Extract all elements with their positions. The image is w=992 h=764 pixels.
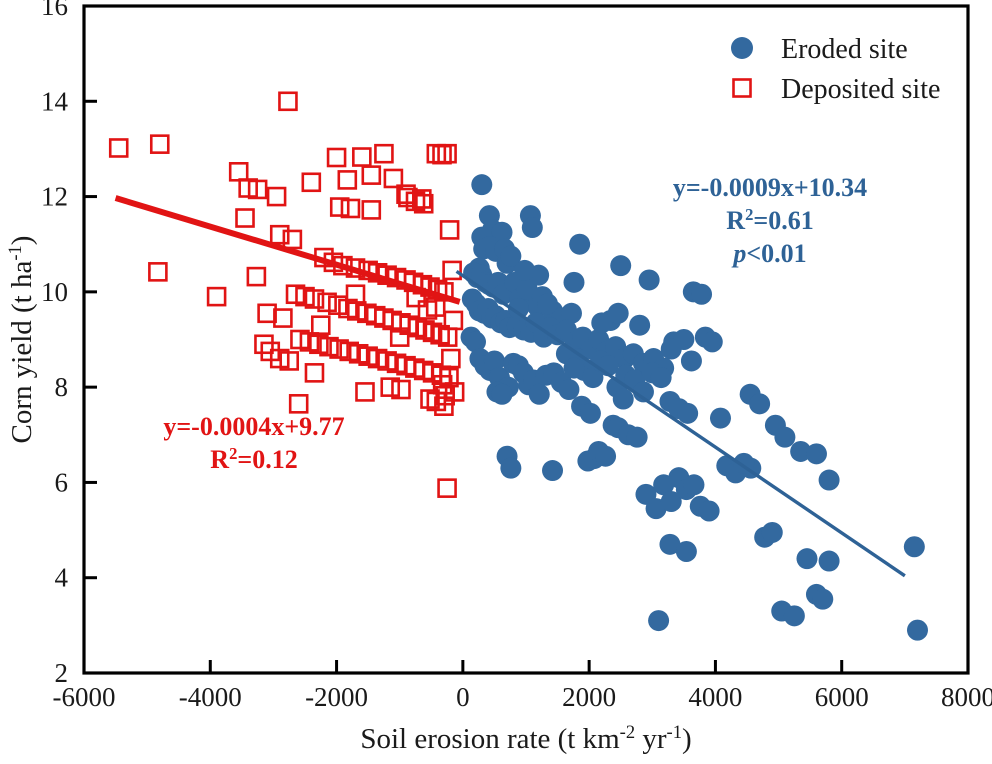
data-point <box>563 358 584 379</box>
data-point <box>627 427 648 448</box>
data-point <box>356 383 373 400</box>
legend-marker-square-icon <box>734 80 751 97</box>
data-point <box>375 145 392 162</box>
data-point <box>353 149 370 166</box>
data-point <box>558 379 579 400</box>
data-point <box>284 231 301 248</box>
data-point <box>762 522 783 543</box>
data-point <box>259 305 276 322</box>
data-point <box>904 536 925 557</box>
annotation-line: R2=0.12 <box>210 444 297 475</box>
data-point <box>439 480 456 497</box>
data-point <box>363 167 380 184</box>
annotation-line: p<0.01 <box>731 239 806 268</box>
annotation-line: y=-0.0004x+9.77 <box>163 412 344 441</box>
data-point <box>500 458 521 479</box>
data-point <box>230 163 247 180</box>
data-point <box>542 460 563 481</box>
data-point <box>514 260 535 281</box>
data-point <box>248 268 265 285</box>
y-tick-label: 14 <box>41 86 69 116</box>
x-tick-label: 2000 <box>562 682 616 712</box>
data-point <box>812 589 833 610</box>
data-point <box>691 284 712 305</box>
data-point <box>648 610 669 631</box>
fit-line-eroded <box>457 271 905 575</box>
data-point <box>749 393 770 414</box>
data-point <box>303 174 320 191</box>
data-point <box>290 395 307 412</box>
data-point <box>274 310 291 327</box>
data-point <box>784 605 805 626</box>
data-point <box>699 501 720 522</box>
series-eroded <box>461 174 928 640</box>
data-point <box>522 217 543 238</box>
data-point <box>806 443 827 464</box>
data-point <box>651 367 672 388</box>
data-point <box>529 384 550 405</box>
x-tick-label: -2000 <box>305 682 368 712</box>
data-point <box>312 317 329 334</box>
data-point <box>629 315 650 336</box>
y-tick-label: 4 <box>55 563 69 593</box>
y-tick-label: 12 <box>41 182 68 212</box>
data-point <box>819 470 840 491</box>
x-tick-label: -4000 <box>179 682 242 712</box>
x-tick-label: 4000 <box>688 682 742 712</box>
legend-marker-circle-icon <box>731 37 753 59</box>
data-point <box>268 188 285 205</box>
y-tick-label: 16 <box>41 0 68 21</box>
data-point <box>774 427 795 448</box>
data-point <box>639 269 660 290</box>
data-point <box>255 336 272 353</box>
data-point <box>710 408 731 429</box>
data-point <box>208 288 225 305</box>
data-point <box>149 263 166 280</box>
data-point <box>610 255 631 276</box>
annotation-line: y=-0.0009x+10.34 <box>673 173 867 202</box>
data-point <box>580 403 601 424</box>
data-point <box>237 210 254 227</box>
annotation-line: R2=0.61 <box>726 205 813 236</box>
data-point <box>279 93 296 110</box>
data-point <box>683 474 704 495</box>
data-point <box>363 201 380 218</box>
eroded-annotation: y=-0.0009x+10.34R2=0.61p<0.01 <box>673 173 867 268</box>
y-tick-label: 10 <box>41 277 68 307</box>
data-point <box>681 350 702 371</box>
y-tick-label: 6 <box>55 467 69 497</box>
legend-label: Deposited site <box>781 74 940 105</box>
data-point <box>676 541 697 562</box>
scatter-plot: -6000-4000-20000200040006000800024681012… <box>0 0 992 764</box>
y-tick-label: 2 <box>55 658 69 688</box>
data-point <box>441 221 458 238</box>
data-point <box>595 446 616 467</box>
data-point <box>819 551 840 572</box>
data-point <box>439 145 456 162</box>
data-point <box>661 339 682 360</box>
x-tick-label: 8000 <box>941 682 992 712</box>
data-point <box>271 226 288 243</box>
data-point <box>492 384 513 405</box>
data-point <box>907 620 928 641</box>
data-point <box>608 303 629 324</box>
data-point <box>796 548 817 569</box>
y-tick-label: 8 <box>55 372 69 402</box>
data-point <box>428 145 445 162</box>
data-point <box>339 171 356 188</box>
data-point <box>442 350 459 367</box>
data-point <box>677 403 698 424</box>
y-axis-title: Corn yield (t ha-1) <box>5 236 39 444</box>
data-point <box>702 331 723 352</box>
data-point <box>537 293 558 314</box>
data-point <box>151 136 168 153</box>
data-point <box>569 234 590 255</box>
x-axis-title: Soil erosion rate (t km-2 yr-1) <box>360 722 691 756</box>
data-point <box>434 146 451 163</box>
chart-figure: -6000-4000-20000200040006000800024681012… <box>0 0 992 764</box>
legend-item[interactable]: Deposited site <box>734 74 941 105</box>
data-point <box>110 139 127 156</box>
data-point <box>471 174 492 195</box>
data-point <box>563 272 584 293</box>
legend: Eroded siteDeposited site <box>731 34 940 105</box>
data-point <box>613 389 634 410</box>
x-tick-label: 6000 <box>815 682 869 712</box>
legend-label: Eroded site <box>781 34 908 65</box>
x-tick-label: 0 <box>456 682 470 712</box>
deposited-annotation: y=-0.0004x+9.77R2=0.12 <box>163 412 344 474</box>
y-axis-title-group: Corn yield (t ha-1) <box>5 236 39 444</box>
data-point <box>306 364 323 381</box>
data-point <box>328 149 345 166</box>
legend-item[interactable]: Eroded site <box>731 34 908 65</box>
